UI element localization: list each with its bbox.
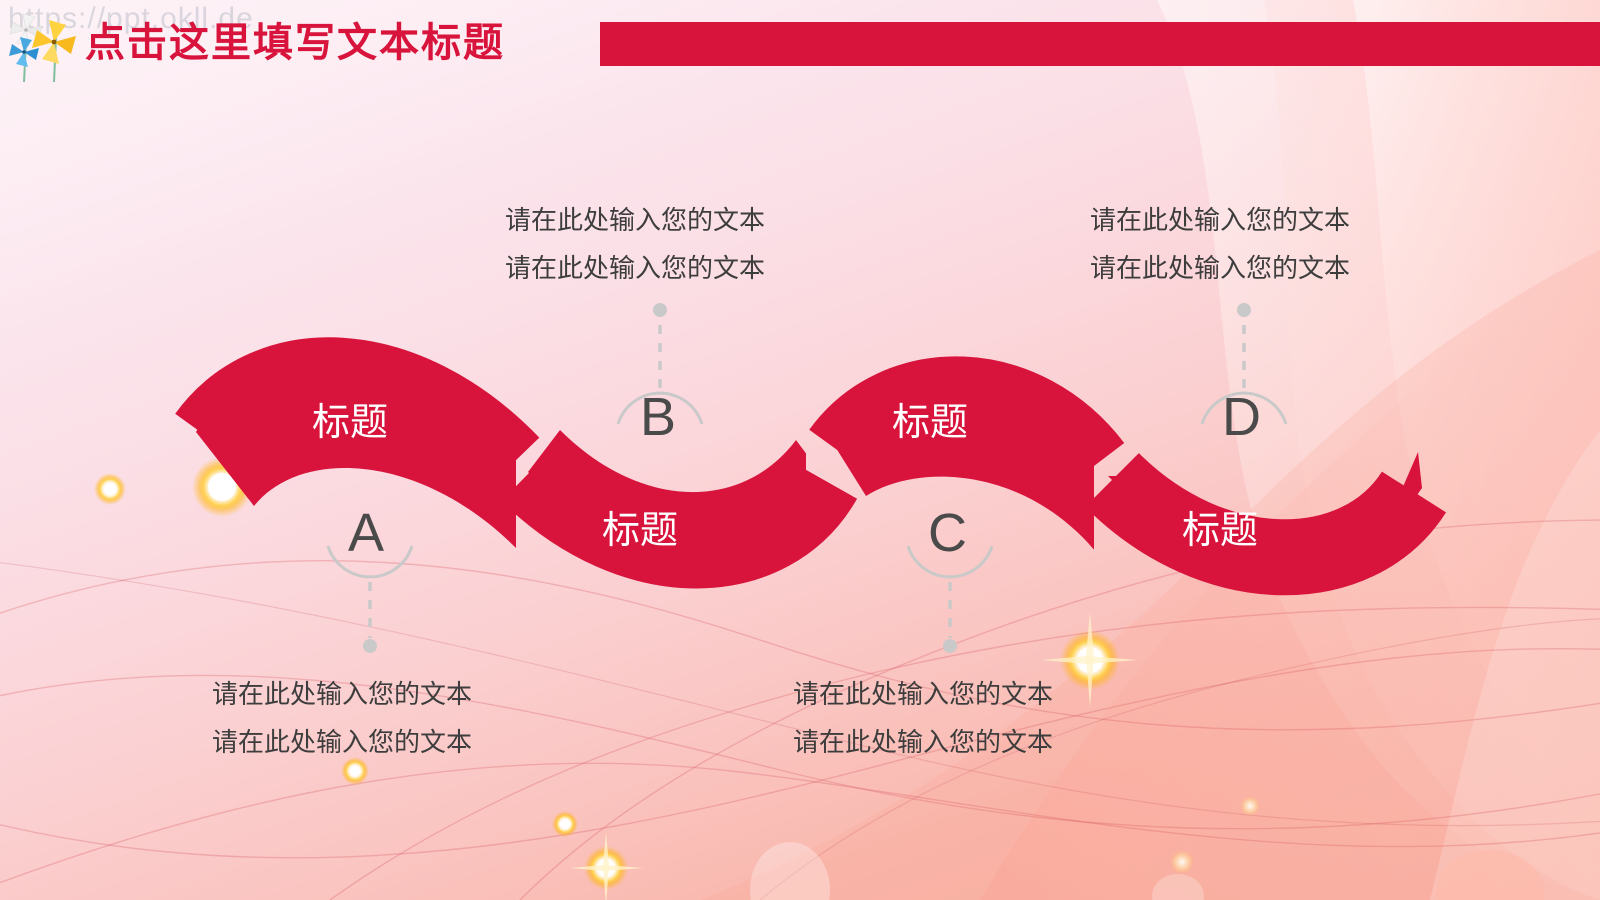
text-line: 请在此处输入您的文本 <box>1090 196 1350 244</box>
text-line: 请在此处输入您的文本 <box>793 718 1053 766</box>
text-block-c[interactable]: 请在此处输入您的文本 请在此处输入您的文本 <box>793 670 1053 766</box>
ribbon-label-d: 标题 <box>1182 512 1258 550</box>
step-marker-b: B <box>640 390 676 444</box>
text-line: 请在此处输入您的文本 <box>1090 244 1350 292</box>
ribbon-label-b: 标题 <box>602 512 678 550</box>
text-line: 请在此处输入您的文本 <box>505 196 765 244</box>
step-marker-c: C <box>928 506 967 560</box>
slide-canvas: https://ppt.okll.de <box>0 0 1600 900</box>
text-line: 请在此处输入您的文本 <box>505 244 765 292</box>
text-block-a[interactable]: 请在此处输入您的文本 请在此处输入您的文本 <box>212 670 472 766</box>
text-block-d[interactable]: 请在此处输入您的文本 请在此处输入您的文本 <box>1090 196 1350 292</box>
ribbon-label-c: 标题 <box>892 404 968 442</box>
ribbon-label-a: 标题 <box>312 404 388 442</box>
text-line: 请在此处输入您的文本 <box>212 718 472 766</box>
text-line: 请在此处输入您的文本 <box>793 670 1053 718</box>
text-block-b[interactable]: 请在此处输入您的文本 请在此处输入您的文本 <box>505 196 765 292</box>
text-line: 请在此处输入您的文本 <box>212 670 472 718</box>
step-marker-a: A <box>348 506 384 560</box>
step-marker-d: D <box>1222 390 1261 444</box>
